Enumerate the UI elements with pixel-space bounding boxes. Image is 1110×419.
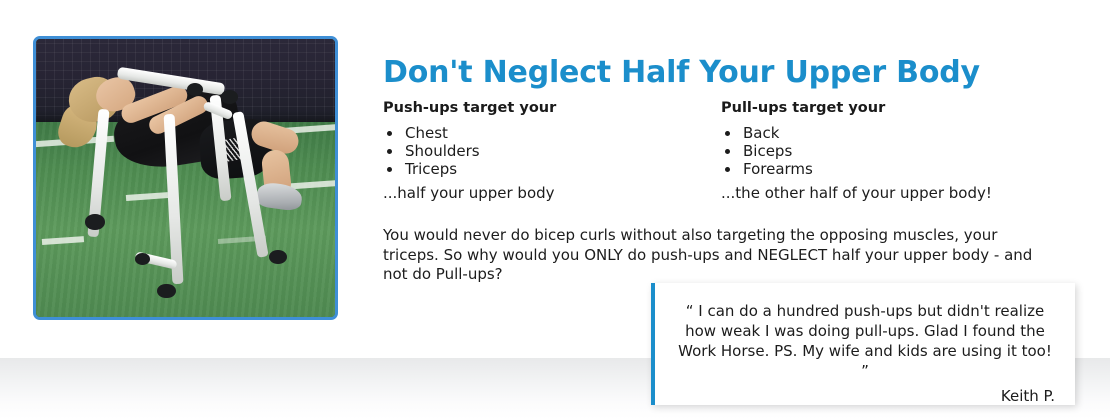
list-item: Chest	[383, 124, 713, 142]
pullups-column: Pull-ups target your Back Biceps Forearm…	[721, 101, 1051, 202]
photo-frame-end-cap	[157, 284, 176, 298]
body-paragraph: You would never do bicep curls without a…	[383, 226, 1055, 285]
testimonial-quote: “ I can do a hundred push-ups but didn't…	[675, 301, 1055, 381]
list-item-label: Chest	[405, 124, 448, 142]
list-item: Forearms	[721, 160, 1051, 178]
list-item-label: Back	[743, 124, 779, 142]
pullups-list: Back Biceps Forearms	[721, 124, 1051, 178]
photo-frame-end-cap	[85, 214, 104, 230]
pushups-column: Push-ups target your Chest Shoulders Tri…	[383, 101, 713, 202]
photo-frame-end-cap	[221, 90, 238, 103]
bullet-icon	[387, 167, 392, 172]
list-item: Shoulders	[383, 142, 713, 160]
page-title: Don't Neglect Half Your Upper Body	[383, 55, 980, 90]
list-item-label: Biceps	[743, 142, 792, 160]
list-item-label: Triceps	[405, 160, 457, 178]
list-item: Back	[721, 124, 1051, 142]
workout-photo	[33, 36, 338, 320]
pushups-heading: Push-ups target your	[383, 101, 713, 117]
testimonial-card: “ I can do a hundred push-ups but didn't…	[651, 283, 1075, 405]
pushups-list: Chest Shoulders Triceps	[383, 124, 713, 178]
bullet-icon	[725, 167, 730, 172]
bullet-icon	[387, 131, 392, 136]
pushups-footer: ...half your upper body	[383, 184, 713, 202]
workout-photo-image	[36, 39, 335, 317]
list-item: Biceps	[721, 142, 1051, 160]
bullet-icon	[725, 131, 730, 136]
testimonial-author: Keith P.	[675, 386, 1055, 406]
bullet-icon	[387, 149, 392, 154]
pullups-heading: Pull-ups target your	[721, 101, 1051, 117]
list-item: Triceps	[383, 160, 713, 178]
list-item-label: Shoulders	[405, 142, 480, 160]
list-item-label: Forearms	[743, 160, 813, 178]
pullups-footer: ...the other half of your upper body!	[721, 184, 1051, 202]
bullet-icon	[725, 149, 730, 154]
